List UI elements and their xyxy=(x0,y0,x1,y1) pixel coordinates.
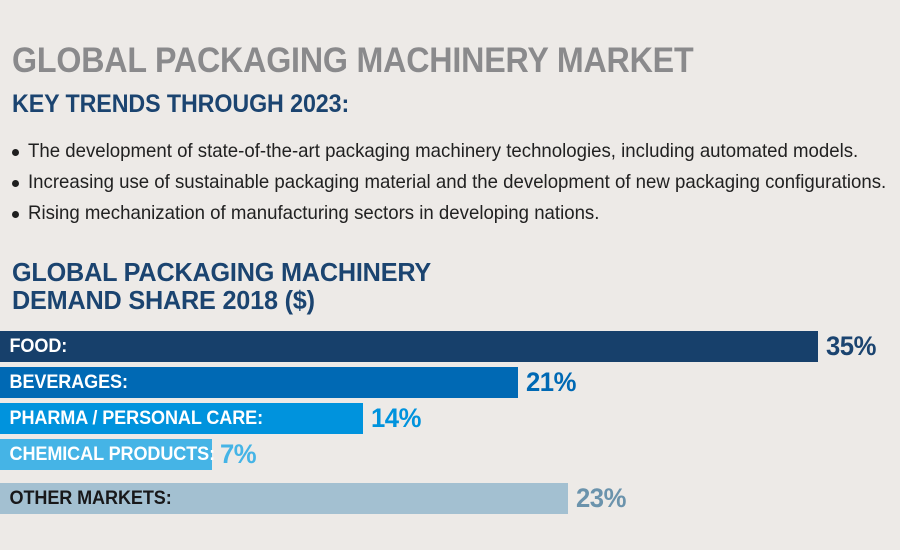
bar-other: OTHER MARKETS: xyxy=(0,483,568,514)
demand-share-bar-chart: FOOD: 35% BEVERAGES: 21% PHARMA / PERSON… xyxy=(0,331,900,519)
chart-row-beverages: BEVERAGES: 21% xyxy=(0,367,900,398)
bar-beverages: BEVERAGES: xyxy=(0,367,518,398)
list-item-text: Increasing use of sustainable packaging … xyxy=(28,171,886,194)
key-trends-list: The development of state-of-the-art pack… xyxy=(12,140,892,233)
list-item: Rising mechanization of manufacturing se… xyxy=(12,202,892,224)
chart-title-line-1: GLOBAL PACKAGING MACHINERY xyxy=(12,258,431,286)
bar-value-food: 35% xyxy=(826,331,876,362)
chart-row-food: FOOD: 35% xyxy=(0,331,900,362)
chart-row-other: OTHER MARKETS: 23% xyxy=(0,483,900,514)
bullet-dot-icon xyxy=(12,149,19,156)
bar-label-food: FOOD: xyxy=(0,336,67,358)
chart-title-line-2: DEMAND SHARE 2018 ($) xyxy=(12,286,431,314)
bar-pharma: PHARMA / PERSONAL CARE: xyxy=(0,403,363,434)
bar-label-beverages: BEVERAGES: xyxy=(0,372,128,394)
bar-label-chemical: CHEMICAL PRODUCTS: xyxy=(0,444,215,466)
chart-title: GLOBAL PACKAGING MACHINERY DEMAND SHARE … xyxy=(12,258,444,314)
bullet-dot-icon xyxy=(12,180,19,187)
list-item: The development of state-of-the-art pack… xyxy=(12,140,892,162)
chart-row-pharma: PHARMA / PERSONAL CARE: 14% xyxy=(0,403,900,434)
list-item-text: Rising mechanization of manufacturing se… xyxy=(28,202,599,225)
list-item: Increasing use of sustainable packaging … xyxy=(12,171,892,193)
bar-value-chemical: 7% xyxy=(220,439,256,470)
bar-value-other: 23% xyxy=(576,483,626,514)
header-block: GLOBAL PACKAGING MACHINERY MARKET KEY TR… xyxy=(12,42,888,119)
bar-value-pharma: 14% xyxy=(371,403,421,434)
bar-label-other: OTHER MARKETS: xyxy=(0,488,172,510)
page-title: GLOBAL PACKAGING MACHINERY MARKET xyxy=(12,42,818,80)
bar-label-pharma: PHARMA / PERSONAL CARE: xyxy=(0,408,263,430)
bullet-dot-icon xyxy=(12,211,19,218)
infographic-root: GLOBAL PACKAGING MACHINERY MARKET KEY TR… xyxy=(0,0,900,550)
list-item-text: The development of state-of-the-art pack… xyxy=(28,140,858,163)
page-subtitle: KEY TRENDS THROUGH 2023: xyxy=(12,89,827,119)
bar-value-beverages: 21% xyxy=(526,367,576,398)
chart-row-chemical: CHEMICAL PRODUCTS: 7% xyxy=(0,439,900,470)
bar-food: FOOD: xyxy=(0,331,818,362)
bar-chemical: CHEMICAL PRODUCTS: xyxy=(0,439,212,470)
